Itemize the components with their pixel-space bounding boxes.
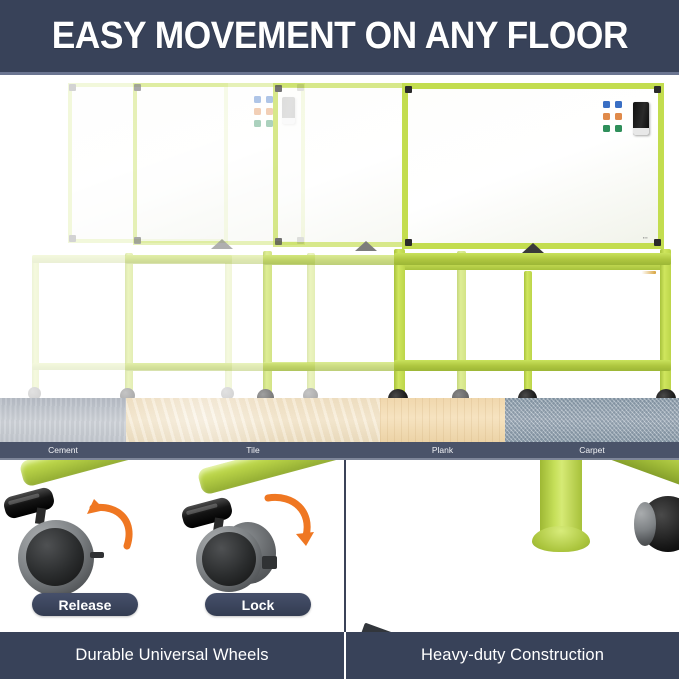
board-corner-icon xyxy=(654,239,661,246)
stand-base-beam xyxy=(353,460,679,503)
brand-mark: ▪▪▪ xyxy=(643,235,648,240)
magnet-blue-icon xyxy=(603,101,610,108)
caster-wheel xyxy=(656,389,676,398)
caster-wheel xyxy=(120,388,135,398)
badge-lock-label: Lock xyxy=(242,597,275,613)
stand-leg-center xyxy=(524,271,532,397)
caster-tire-face xyxy=(26,528,84,586)
floor-label-bar: Cement Tile Plank Carpet xyxy=(0,442,679,458)
board-pivot-icon xyxy=(211,239,233,249)
tray-marker-icon xyxy=(620,271,656,274)
floor-strip-group xyxy=(0,398,679,442)
infographic-canvas: EASY MOVEMENT ON ANY FLOOR xyxy=(0,0,679,679)
floor-band-plank xyxy=(380,398,505,442)
badge-release-label: Release xyxy=(59,597,112,613)
brake-lever-locked-icon xyxy=(262,556,277,569)
board-corner-icon xyxy=(275,238,282,245)
board-corner-icon xyxy=(405,86,412,93)
board-corner-icon xyxy=(134,237,141,244)
caption-wheels-text: Durable Universal Wheels xyxy=(75,646,268,665)
bottom-feature-row: Release Lock Durable Universal Wheels He… xyxy=(0,460,679,679)
rotate-arrow-icon xyxy=(262,490,318,546)
board-corner-icon xyxy=(69,84,76,91)
stand-crossbar-upper xyxy=(394,253,671,265)
magnet-green-icon xyxy=(603,125,610,132)
floor-band-carpet xyxy=(505,398,679,442)
caption-construction: Heavy-duty Construction xyxy=(346,632,679,679)
whiteboard-main: ▪▪▪ xyxy=(388,75,679,398)
leg-end-cap-icon xyxy=(180,496,234,530)
wheel-release-figure xyxy=(0,460,170,610)
badge-release[interactable]: Release xyxy=(32,593,138,616)
cap-gloss xyxy=(8,493,40,506)
floor-label-plank: Plank xyxy=(380,442,505,458)
board-pivot-icon xyxy=(355,241,377,251)
caster-wheel xyxy=(28,387,41,398)
magnet-blue-icon xyxy=(615,101,622,108)
floor-label-carpet: Carpet xyxy=(505,442,679,458)
magnet-orange-icon xyxy=(603,113,610,120)
board-panel: ▪▪▪ xyxy=(402,83,664,249)
board-corner-icon xyxy=(654,86,661,93)
bottom-panel-divider xyxy=(344,460,346,632)
badge-lock[interactable]: Lock xyxy=(205,593,311,616)
stand-crossbar-lower xyxy=(394,360,671,371)
magnet-green-icon xyxy=(615,125,622,132)
board-corner-icon xyxy=(405,239,412,246)
construction-panel xyxy=(346,460,679,632)
floor-label-text: Cement xyxy=(48,445,78,455)
caster-wheel xyxy=(518,389,537,398)
caption-wheels: Durable Universal Wheels xyxy=(0,632,344,679)
hero-product-sequence: ▪▪▪ xyxy=(0,75,679,398)
base-beam-end-cap-icon xyxy=(361,623,397,632)
caster-tire-face xyxy=(202,532,256,586)
board-pivot-icon xyxy=(522,243,544,253)
floor-label-text: Carpet xyxy=(579,445,605,455)
stand-leg-left xyxy=(263,251,272,395)
floor-band-tile xyxy=(126,398,380,442)
stand-leg-left xyxy=(125,253,133,393)
rotate-arrow-icon xyxy=(85,498,141,554)
post-weld-joint xyxy=(532,526,590,552)
board-corner-icon xyxy=(134,84,141,91)
wheel-lock-figure xyxy=(180,460,344,610)
cap-gloss xyxy=(186,503,218,516)
board-corner-icon xyxy=(69,235,76,242)
board-corner-icon xyxy=(275,85,282,92)
leg-end-cap-icon xyxy=(2,486,56,520)
stand-leg-left xyxy=(394,249,405,397)
floor-label-text: Tile xyxy=(246,445,259,455)
floor-label-tile: Tile xyxy=(126,442,380,458)
floor-label-text: Plank xyxy=(432,445,453,455)
header-banner: EASY MOVEMENT ON ANY FLOOR xyxy=(0,0,679,72)
caster-outer-ring xyxy=(634,502,656,546)
page-title: EASY MOVEMENT ON ANY FLOOR xyxy=(51,15,627,58)
eraser-lip xyxy=(633,128,649,135)
floor-label-cement: Cement xyxy=(0,442,126,458)
floor-band-cement xyxy=(0,398,126,442)
caption-divider xyxy=(344,632,346,679)
stand-leg-right xyxy=(660,249,671,397)
wheels-panel: Release Lock xyxy=(0,460,344,632)
magnet-orange-icon xyxy=(615,113,622,120)
caption-construction-text: Heavy-duty Construction xyxy=(421,646,604,665)
caster-wheel xyxy=(388,389,408,398)
board-eraser-icon xyxy=(633,102,649,135)
magnet-dots xyxy=(603,101,622,132)
